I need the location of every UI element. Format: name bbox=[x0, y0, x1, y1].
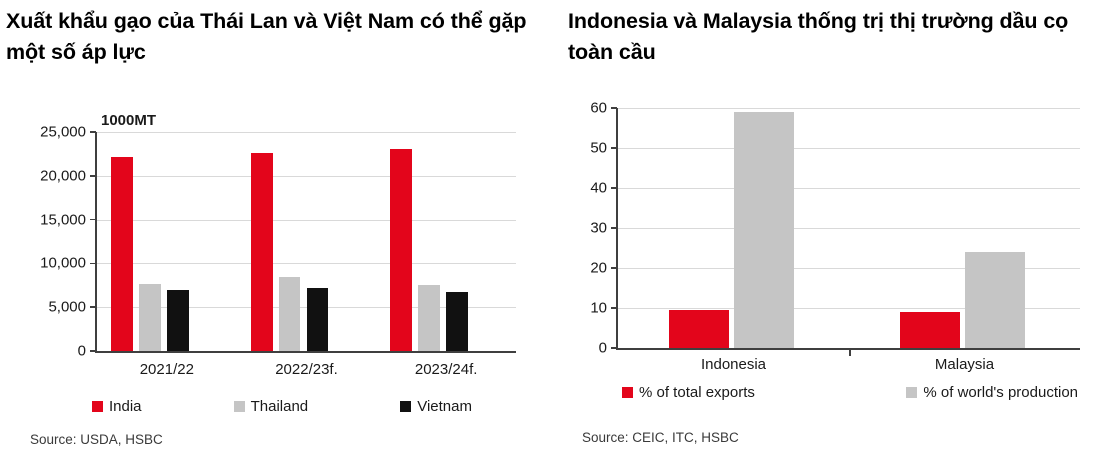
plot-area bbox=[618, 108, 1080, 348]
gridline bbox=[618, 108, 1080, 109]
legend-swatch-icon bbox=[622, 387, 633, 398]
legend-item[interactable]: % of total exports bbox=[622, 384, 755, 401]
y-tick bbox=[90, 306, 96, 308]
left-chart-panel: Xuất khẩu gạo của Thái Lan và Việt Nam c… bbox=[0, 0, 556, 461]
palm-oil-chart: 0102030405060IndonesiaMalaysia% of total… bbox=[556, 0, 1109, 461]
right-source-note: Source: CEIC, ITC, HSBC bbox=[582, 430, 739, 445]
y-axis-tick-label: 15,000 bbox=[16, 211, 86, 228]
left-source-note: Source: USDA, HSBC bbox=[30, 432, 163, 447]
y-tick bbox=[611, 227, 617, 229]
legend-label: Vietnam bbox=[417, 398, 472, 415]
y-axis-tick-label: 30 bbox=[537, 220, 607, 237]
right-chart-panel: Indonesia và Malaysia thống trị thị trườ… bbox=[556, 0, 1109, 461]
y-axis-tick-label: 0 bbox=[537, 340, 607, 357]
y-tick bbox=[611, 267, 617, 269]
y-axis-tick-label: 40 bbox=[537, 180, 607, 197]
y-axis-line bbox=[95, 132, 97, 351]
gridline bbox=[97, 176, 516, 177]
figure-page: Xuất khẩu gạo của Thái Lan và Việt Nam c… bbox=[0, 0, 1109, 461]
y-tick bbox=[90, 175, 96, 177]
legend-item[interactable]: Vietnam bbox=[400, 398, 472, 415]
x-axis-category-label: Malaysia bbox=[849, 356, 1080, 373]
gridline bbox=[618, 228, 1080, 229]
gridline bbox=[618, 148, 1080, 149]
legend-item[interactable]: India bbox=[92, 398, 142, 415]
bar-of-world-s-production-1 bbox=[965, 252, 1026, 348]
chart-legend: % of total exports% of world's productio… bbox=[622, 384, 1078, 401]
bar-india-1 bbox=[251, 153, 273, 351]
legend-swatch-icon bbox=[234, 401, 245, 412]
chart-legend: IndiaThailandVietnam bbox=[92, 398, 472, 415]
legend-item[interactable]: Thailand bbox=[234, 398, 309, 415]
y-axis-tick-label: 10 bbox=[537, 300, 607, 317]
bar-of-total-exports-1 bbox=[900, 312, 961, 348]
y-axis-tick-label: 60 bbox=[537, 100, 607, 117]
bar-of-world-s-production-0 bbox=[734, 112, 795, 348]
bar-of-total-exports-0 bbox=[669, 310, 730, 348]
y-axis-tick-label: 20,000 bbox=[16, 167, 86, 184]
y-axis-tick-label: 50 bbox=[537, 140, 607, 157]
bar-thailand-0 bbox=[139, 284, 161, 351]
rice-exports-chart: 05,00010,00015,00020,00025,0002021/22202… bbox=[0, 0, 556, 461]
y-axis-tick-label: 10,000 bbox=[16, 255, 86, 272]
y-tick bbox=[90, 263, 96, 265]
legend-swatch-icon bbox=[92, 401, 103, 412]
bar-vietnam-2 bbox=[446, 292, 468, 351]
x-axis-category-label: 2023/24f. bbox=[376, 361, 516, 378]
x-axis-line bbox=[95, 351, 516, 353]
y-axis-tick-label: 25,000 bbox=[16, 124, 86, 141]
bar-vietnam-1 bbox=[307, 288, 329, 351]
y-axis-tick-label: 20 bbox=[537, 260, 607, 277]
legend-swatch-icon bbox=[906, 387, 917, 398]
plot-area bbox=[97, 132, 516, 351]
y-tick bbox=[611, 187, 617, 189]
y-tick bbox=[90, 131, 96, 133]
gridline bbox=[97, 132, 516, 133]
bar-thailand-2 bbox=[418, 285, 440, 351]
legend-label: % of total exports bbox=[639, 384, 755, 401]
bar-india-2 bbox=[390, 149, 412, 351]
legend-swatch-icon bbox=[400, 401, 411, 412]
x-axis-line bbox=[616, 348, 1080, 350]
legend-item[interactable]: % of world's production bbox=[906, 384, 1078, 401]
bar-india-0 bbox=[111, 157, 133, 351]
gridline bbox=[97, 220, 516, 221]
x-axis-category-label: 2021/22 bbox=[97, 361, 237, 378]
y-tick bbox=[611, 307, 617, 309]
legend-label: % of world's production bbox=[923, 384, 1078, 401]
gridline bbox=[618, 188, 1080, 189]
y-tick bbox=[611, 107, 617, 109]
x-axis-category-label: 2022/23f. bbox=[237, 361, 377, 378]
y-tick bbox=[90, 219, 96, 221]
gridline bbox=[97, 263, 516, 264]
legend-label: Thailand bbox=[251, 398, 309, 415]
y-axis-tick-label: 0 bbox=[16, 343, 86, 360]
bar-vietnam-0 bbox=[167, 290, 189, 351]
y-axis-unit-label: 1000MT bbox=[101, 112, 156, 129]
x-tick bbox=[849, 350, 851, 356]
x-axis-category-label: Indonesia bbox=[618, 356, 849, 373]
legend-label: India bbox=[109, 398, 142, 415]
bar-thailand-1 bbox=[279, 277, 301, 351]
y-axis-tick-label: 5,000 bbox=[16, 299, 86, 316]
y-tick bbox=[611, 147, 617, 149]
